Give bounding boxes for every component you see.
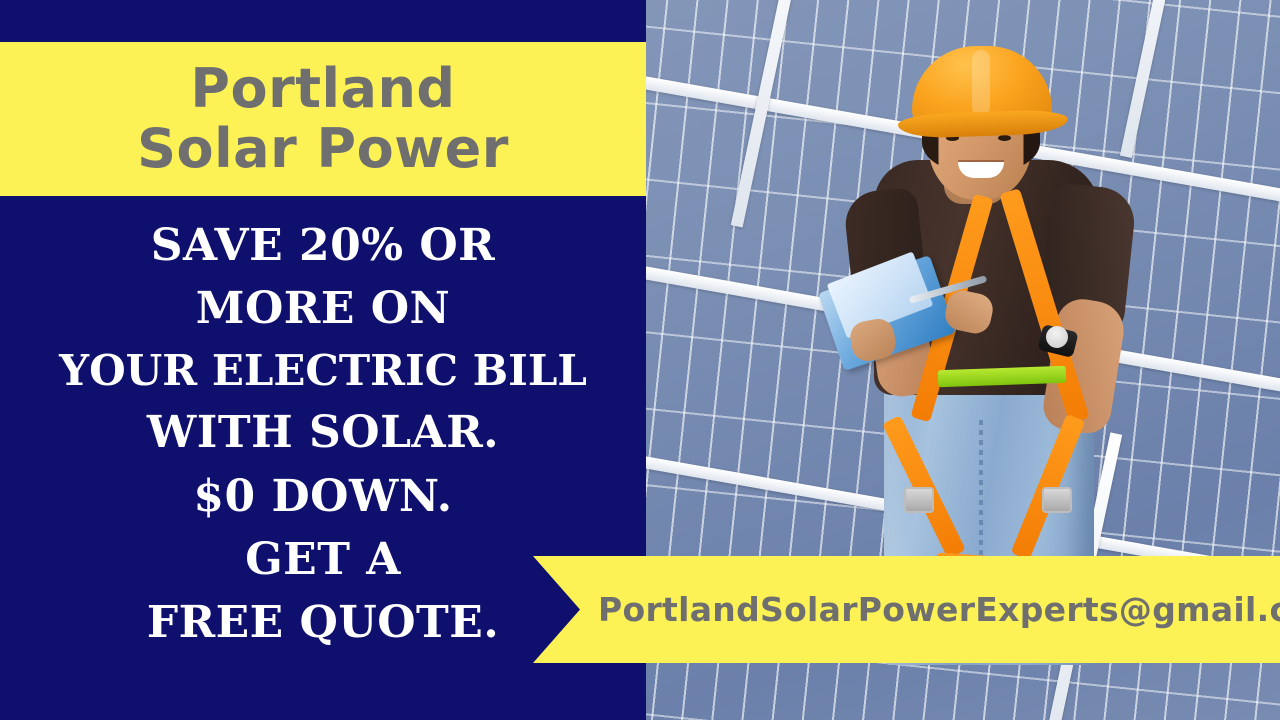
- headline-line-3: YOUR ELECTRIC BILL: [0, 341, 646, 401]
- contact-email[interactable]: PortlandSolarPowerExperts@gmail.com: [598, 590, 1280, 629]
- green-belt: [938, 366, 1067, 387]
- brand-name-line-2: Solar Power: [137, 119, 509, 179]
- headline-line-2: MORE ON: [0, 277, 646, 340]
- email-ribbon-banner[interactable]: PortlandSolarPowerExperts@gmail.com: [533, 556, 1280, 663]
- brand-name-line-1: Portland: [190, 59, 455, 119]
- headline-line-4: WITH SOLAR.: [0, 401, 646, 464]
- headline-line-1: SAVE 20% OR: [0, 214, 646, 277]
- harness-buckle: [1042, 487, 1072, 513]
- headline-line-5: $0 DOWN.: [0, 465, 646, 528]
- harness-strap: [999, 188, 1089, 424]
- brand-header-band: Portland Solar Power: [0, 42, 646, 196]
- headline-block: SAVE 20% OR MORE ON YOUR ELECTRIC BILL W…: [0, 214, 646, 655]
- solar-ad-poster: Portland Solar Power SAVE 20% OR MORE ON…: [0, 0, 1280, 720]
- harness-buckle: [904, 487, 934, 513]
